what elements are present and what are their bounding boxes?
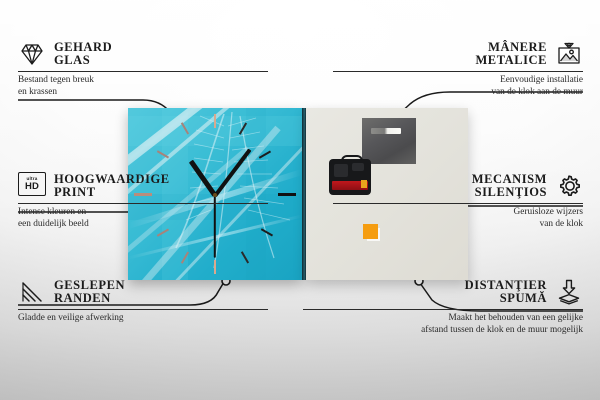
feature-mecanism-silentios[interactable]: MECANISMSILENŢIOS Geruisloze wijzersvan … [333,172,583,230]
feature-hoogwaardige-print[interactable]: ultra HD HOOGWAARDIGEPRINT Intense kleur… [18,172,268,230]
ultra-hd-large-label: HD [25,182,39,192]
feature-description: Gladde en veilige afwerking [18,313,268,325]
feature-header: ultra HD HOOGWAARDIGEPRINT [18,172,268,200]
feature-title: MECANISMSILENŢIOS [472,173,547,200]
feature-divider [303,309,583,310]
feature-title: DISTANŢIERSPUMĂ [465,279,547,306]
mechanism-detail [352,163,364,171]
hanger-slot [371,128,401,134]
feature-divider [18,309,268,310]
feature-divider [18,203,268,204]
infographic-canvas: GEHARDGLAS Bestand tegen breuken krassen… [0,0,600,400]
feature-title: MÂNEREMETALICE [475,41,547,68]
gear-icon [555,172,583,200]
feature-description: Intense kleuren eneen duidelijk beeld [18,207,268,230]
clock-tick [214,114,216,128]
arrow-down-layers-icon [555,278,583,306]
feature-header: DISTANŢIERSPUMĂ [303,278,583,306]
feature-description: Bestand tegen breuken krassen [18,75,268,98]
feature-title: GEHARDGLAS [54,41,112,68]
feature-description: Geruisloze wijzersvan de klok [333,207,583,230]
feature-divider [333,71,583,72]
clock-tick [214,260,216,274]
bevelled-edges-icon [18,278,46,306]
ultra-hd-icon: ultra HD [18,172,46,200]
feature-description: Maakt het behouden van een gelijkeafstan… [303,313,583,336]
feature-header: GESLEPENRANDEN [18,278,268,306]
feature-manere-metalice[interactable]: MÂNEREMETALICE Eenvoudige installatievan… [333,40,583,98]
feature-title: GESLEPENRANDEN [54,279,125,306]
clock-tick [278,193,296,196]
feature-distantier-spuma[interactable]: DISTANŢIERSPUMĂ Maakt het behouden van e… [303,278,583,336]
diamond-icon [18,40,46,68]
feature-title: HOOGWAARDIGEPRINT [54,173,170,200]
feature-divider [18,71,268,72]
feature-gehard-glas[interactable]: GEHARDGLAS Bestand tegen breuken krassen [18,40,268,98]
feature-header: MÂNEREMETALICE [333,40,583,68]
feature-geslepen-randen[interactable]: GESLEPENRANDEN Gladde en veilige afwerki… [18,278,268,325]
feature-divider [333,203,583,204]
feature-header: GEHARDGLAS [18,40,268,68]
feature-header: MECANISMSILENŢIOS [333,172,583,200]
picture-frame-hanger-icon [555,40,583,68]
feature-description: Eenvoudige installatievan de klok aan de… [333,75,583,98]
